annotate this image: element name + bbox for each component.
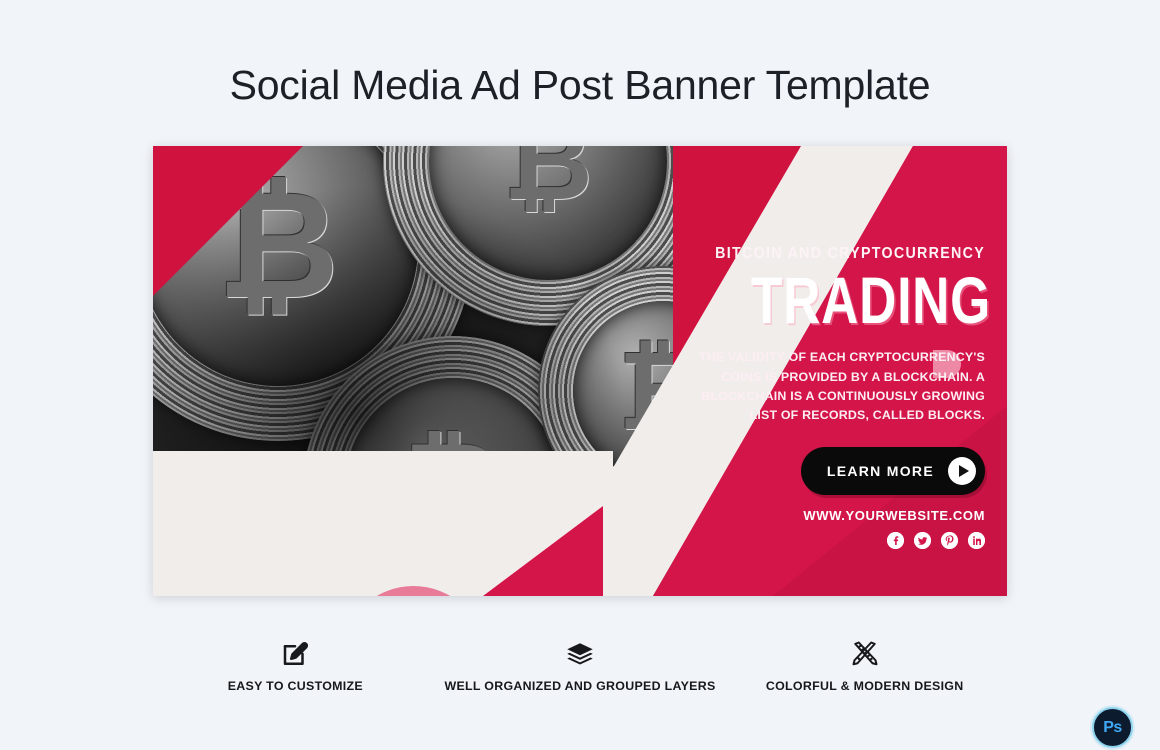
banner-kicker: BITCOIN AND CRYPTOCURRENCY [709,245,985,263]
edit-pencil-icon [280,638,310,672]
feature-label: COLORFUL & MODERN DESIGN [766,679,964,695]
pinterest-icon[interactable] [941,532,958,549]
feature-item: COLORFUL & MODERN DESIGN [722,638,1007,695]
layers-icon [565,638,595,672]
banner-headline: TRADING [751,269,985,332]
website-url[interactable]: WWW.YOURWEBSITE.COM [685,508,985,523]
ruler-pencil-icon [850,638,880,672]
feature-item: WELL ORGANIZED AND GROUPED LAYERS [438,638,723,695]
feature-label: EASY TO CUSTOMIZE [228,679,363,695]
feature-label: WELL ORGANIZED AND GROUPED LAYERS [444,679,715,695]
photoshop-badge: Ps [1092,707,1133,748]
feature-row: EASY TO CUSTOMIZE WELL ORGANIZED AND GRO… [153,638,1007,708]
banner-content: BITCOIN AND CRYPTOCURRENCY TRADING THE V… [685,146,985,549]
social-links[interactable] [685,532,985,549]
linkedin-icon[interactable] [968,532,985,549]
ad-banner[interactable]: ₿ ₿ ₿ ₿ BITCOIN AND CRYPTOCURRENCY TRADI… [153,146,1007,596]
play-icon [948,457,976,485]
facebook-icon[interactable] [887,532,904,549]
twitter-icon[interactable] [914,532,931,549]
feature-item: EASY TO CUSTOMIZE [153,638,438,695]
page-title: Social Media Ad Post Banner Template [0,62,1160,109]
learn-more-button[interactable]: LEARN MORE [801,447,985,495]
banner-body-text: THE VALIDITY OF EACH CRYPTOCURRENCY'S CO… [685,348,985,425]
learn-more-label: LEARN MORE [827,463,934,479]
